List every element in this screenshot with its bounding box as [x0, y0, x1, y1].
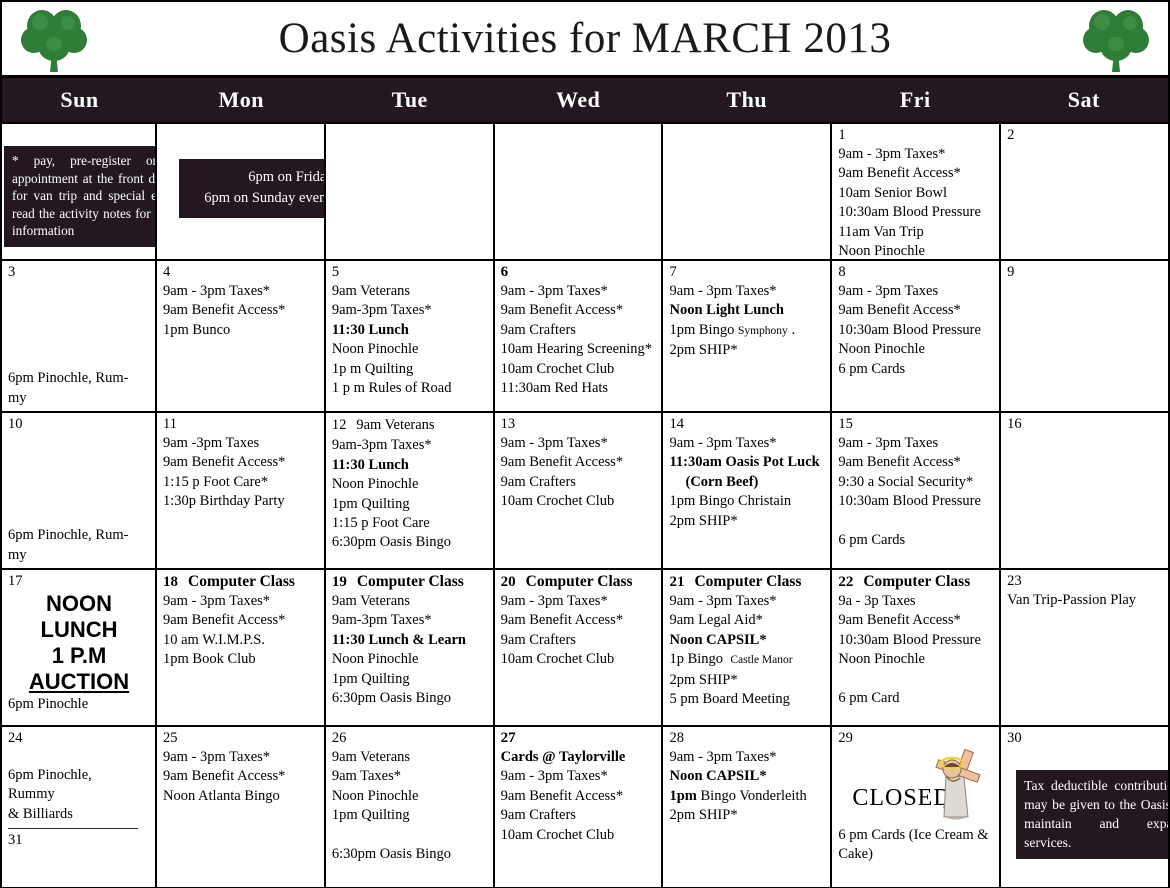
day-number: 24: [8, 730, 23, 747]
event-item: 5 pm Board Meeting: [669, 690, 825, 709]
event-item: 9am Crafters: [501, 631, 657, 650]
event-item: 9am Crafters: [501, 473, 657, 492]
jesus-carrying-cross-icon: [924, 747, 988, 825]
day-number: 3: [8, 264, 15, 281]
day-header: 3: [8, 264, 150, 281]
day-number: 23: [1007, 573, 1022, 590]
event-item: Noon Pinochle: [332, 475, 488, 494]
day-header: 29: [838, 730, 994, 747]
day-cell-29[interactable]: 29CLOSED6 pm Cards (Ice Cream &Cake): [832, 727, 1001, 887]
auction-line: NOON: [8, 591, 150, 617]
day-header: 10: [8, 416, 150, 433]
evening-event-line: 6pm Pinochle, Rum-: [8, 369, 150, 388]
week-row: 106pm Pinochle, Rum-my119am -3pm Taxes9a…: [2, 413, 1168, 570]
event-item: Noon CAPSIL*: [669, 767, 825, 786]
day-number: 11: [163, 416, 177, 433]
calendar-page: Oasis Activities for MARCH 2013 Sun Mon …: [0, 0, 1170, 888]
event-list: 9am - 3pm Taxes*Noon Light Lunch1pm Bing…: [669, 282, 825, 361]
day-number: 21: [669, 574, 684, 591]
day-header-extra: Computer Class: [526, 573, 633, 591]
day-number: 7: [669, 264, 676, 281]
event-item: 1p Bingo Castle Manor: [669, 650, 825, 670]
day-number: 16: [1007, 416, 1022, 433]
weekday-tue: Tue: [326, 78, 495, 122]
event-item: 9am - 3pm Taxes*: [163, 592, 319, 611]
evening-event-line: my: [8, 546, 150, 565]
event-item: 9am-3pm Taxes*: [332, 301, 488, 320]
day-cell-19[interactable]: 19Computer Class9am Veterans9am-3pm Taxe…: [326, 570, 495, 725]
event-item: 9am Benefit Access*: [501, 453, 657, 472]
day-cell-empty[interactable]: * pay, pre-register or make an appointme…: [2, 124, 157, 259]
evening-event-line: my: [8, 389, 150, 408]
event-item: 9am-3pm Taxes*: [332, 436, 488, 455]
event-item: Cards @ Taylorville: [501, 748, 657, 767]
day-number: 26: [332, 730, 347, 747]
event-list: 9am - 3pm Taxes*9am Benefit Access*9am C…: [501, 434, 657, 512]
day-header: 9: [1007, 264, 1163, 281]
event-item: 9am Benefit Access*: [163, 453, 319, 472]
event-item: 6:30pm Oasis Bingo: [332, 533, 488, 552]
event-item: 9am - 3pm Taxes*: [669, 434, 825, 453]
day-header: 25: [163, 730, 319, 747]
event-item: 10am Crochet Club: [501, 360, 657, 379]
event-list: 9am Veterans9am-3pm Taxes*11:30 Lunch & …: [332, 592, 488, 708]
event-list: Van Trip-Passion Play: [1007, 591, 1163, 610]
day-header-extra: Computer Class: [863, 573, 970, 591]
day-number: 18: [163, 574, 178, 591]
event-item: 10 am W.I.M.P.S.: [163, 631, 319, 650]
weekday-thu: Thu: [663, 78, 832, 122]
day-header: 7: [669, 264, 825, 281]
event-item: 9am Veterans: [332, 592, 488, 611]
day-header: 5: [332, 264, 488, 281]
registration-note: * pay, pre-register or make an appointme…: [4, 146, 157, 247]
day-cell-1[interactable]: 19am - 3pm Taxes*9am Benefit Access*10am…: [832, 124, 1001, 259]
event-item: 9am Crafters: [501, 321, 657, 340]
event-item: 10am Crochet Club: [501, 492, 657, 511]
day-header: 13: [501, 416, 657, 433]
day-cell-17[interactable]: 17NOONLUNCH1 P.MAUCTION6pm Pinochle: [2, 570, 157, 725]
tax-deductible-note: Tax deductible contributions may be give…: [1016, 770, 1168, 859]
weekday-sat: Sat: [1000, 78, 1169, 122]
day-header: 30: [1007, 730, 1163, 747]
day-cell-4[interactable]: 49am - 3pm Taxes*9am Benefit Access*1pm …: [157, 261, 326, 411]
day-number: 30: [1007, 730, 1022, 747]
day-number: 10: [8, 416, 23, 433]
day-cell-6[interactable]: 69am - 3pm Taxes*9am Benefit Access*9am …: [495, 261, 664, 411]
event-item: 11am Van Trip: [838, 223, 994, 242]
event-item: 9am - 3pm Taxes*: [669, 592, 825, 611]
day-cell-10[interactable]: 106pm Pinochle, Rum-my: [2, 413, 157, 568]
event-item: 9am -3pm Taxes: [163, 434, 319, 453]
evening-event-line: 6pm Pinochle, Rum-: [8, 526, 150, 545]
event-item: 9am - 3pm Taxes*: [163, 748, 319, 767]
event-item: Noon Light Lunch: [669, 301, 825, 320]
event-item: 9am Benefit Access*: [501, 787, 657, 806]
event-item: 2pm SHIP*: [669, 806, 825, 825]
event-item: 9am - 3pm Taxes*: [669, 282, 825, 301]
event-item: Noon Pinochle: [838, 650, 994, 669]
event-list: 9am Veterans9am-3pm Taxes*11:30 LunchNoo…: [332, 282, 488, 398]
week-row: * pay, pre-register or make an appointme…: [2, 124, 1168, 261]
day-cell-30[interactable]: 30Tax deductible contributions may be gi…: [1001, 727, 1168, 887]
event-list: 9am - 3pm Taxes*9am Benefit Access*9am C…: [501, 282, 657, 398]
event-list: 9am - 3pm Taxes*9am Benefit Access*10am …: [838, 145, 994, 259]
event-item: 1:15 p Foot Care*: [163, 473, 319, 492]
date-divider: [8, 828, 138, 829]
event-item: 9am - 3pm Taxes*: [838, 145, 994, 164]
day-header: 14: [669, 416, 825, 433]
day-header-extra: Computer Class: [357, 573, 464, 591]
week-row: 36pm Pinochle, Rum-my49am - 3pm Taxes*9a…: [2, 261, 1168, 413]
event-item: 9am Benefit Access*: [501, 301, 657, 320]
pinochle-evenings-note: 6pm on Friday evening: Pinochle, 5 in 16…: [179, 159, 326, 218]
event-item: 9:30 a Social Security*: [838, 473, 994, 492]
weekday-fri: Fri: [831, 78, 1000, 122]
page-title: Oasis Activities for MARCH 2013: [279, 14, 892, 63]
day-number: 9: [1007, 264, 1014, 281]
auction-line: AUCTION: [8, 669, 150, 695]
event-list: 9am - 3pm Taxes9am Benefit Access*9:30 a…: [838, 434, 994, 550]
event-item: 1:15 p Foot Care: [332, 514, 488, 533]
event-item: 11:30am Red Hats: [501, 379, 657, 398]
event-item: 6:30pm Oasis Bingo: [332, 689, 488, 708]
day-header: 27: [501, 730, 657, 747]
event-item: 1pm Quilting: [332, 495, 488, 514]
day-cell-11[interactable]: 119am -3pm Taxes9am Benefit Access*1:15 …: [157, 413, 326, 568]
event-item: 1pm Bingo Christain: [669, 492, 825, 511]
day-number: 25: [163, 730, 178, 747]
day-cell-16[interactable]: 16: [1001, 413, 1168, 568]
day-cell-24[interactable]: 246pm Pinochle,Rummy& Billiards31: [2, 727, 157, 887]
event-item: 9am - 3pm Taxes*: [501, 434, 657, 453]
event-item: 2pm SHIP*: [669, 341, 825, 360]
auction-announcement: NOONLUNCH1 P.MAUCTION: [8, 591, 150, 695]
week-row: 17NOONLUNCH1 P.MAUCTION6pm Pinochle18Com…: [2, 570, 1168, 727]
event-item: 9am Benefit Access*: [163, 611, 319, 630]
event-item: 6pm Pinochle: [8, 695, 150, 714]
day-header: 1: [838, 127, 994, 144]
event-item: 1pm Quilting: [332, 670, 488, 689]
event-list: 9am - 3pm Taxes*11:30am Oasis Pot Luck(C…: [669, 434, 825, 531]
event-item: 9am Veterans: [332, 748, 488, 767]
event-item: 10am Crochet Club: [501, 650, 657, 669]
day-header: 4: [163, 264, 319, 281]
event-item: 11:30 Lunch & Learn: [332, 631, 488, 650]
day-cell-23[interactable]: 23Van Trip-Passion Play: [1001, 570, 1168, 725]
day-header: 129am Veterans: [332, 416, 488, 435]
day-cell-22[interactable]: 22Computer Class9a - 3p Taxes9am Benefit…: [832, 570, 1001, 725]
day-number: 19: [332, 574, 347, 591]
event-item: 11:30 Lunch: [332, 321, 488, 340]
day-header: 6: [501, 264, 657, 281]
event-item: 9am Benefit Access*: [838, 453, 994, 472]
day-number: 27: [501, 730, 516, 747]
event-item: 9am Benefit Access*: [838, 611, 994, 630]
day-cell-25[interactable]: 259am - 3pm Taxes*9am Benefit Access*Noo…: [157, 727, 326, 887]
pinochle-note-line: 6pm on Friday evening: Pinochle, 5 in 1: [185, 167, 326, 188]
event-item: 10am Senior Bowl: [838, 184, 994, 203]
event-list: 9a - 3p Taxes9am Benefit Access*10:30am …: [838, 592, 994, 708]
day-cell-14[interactable]: 149am - 3pm Taxes*11:30am Oasis Pot Luck…: [663, 413, 832, 568]
event-item: 6:30pm Oasis Bingo: [332, 845, 488, 864]
event-list: 9am - 3pm Taxes*9am Benefit Access*1pm B…: [163, 282, 319, 340]
event-list: 9am-3pm Taxes*11:30 LunchNoon Pinochle1p…: [332, 436, 488, 552]
event-item: 9am - 3pm Taxes*: [501, 592, 657, 611]
event-item: 1p m Quilting: [332, 360, 488, 379]
weekday-sun: Sun: [2, 78, 157, 122]
event-item: 9am - 3pm Taxes*: [669, 748, 825, 767]
day-cell-2[interactable]: 2: [1001, 124, 1168, 259]
calendar-title-banner: Oasis Activities for MARCH 2013: [2, 2, 1168, 78]
event-list: 6pm Pinochle,Rummy& Billiards31: [8, 766, 150, 849]
day-header: 8: [838, 264, 994, 281]
day-number: 1: [838, 127, 845, 144]
event-item: 9am-3pm Taxes*: [332, 611, 488, 630]
day-header: 11: [163, 416, 319, 433]
event-item: 9am - 3pm Taxes: [838, 434, 994, 453]
event-item: Noon CAPSIL*: [669, 631, 825, 650]
event-item: 10am Hearing Screening*: [501, 340, 657, 359]
event-item: 1pm Bingo Vonderleith: [669, 787, 825, 806]
event-item: 9am Benefit Access*: [838, 164, 994, 183]
day-cell-empty[interactable]: [495, 124, 664, 259]
day-number: 12: [332, 417, 347, 434]
day-header: 28: [669, 730, 825, 747]
day-cell-26[interactable]: 269am Veterans9am Taxes*Noon Pinochle1pm…: [326, 727, 495, 887]
day-cell-18[interactable]: 18Computer Class9am - 3pm Taxes*9am Bene…: [157, 570, 326, 725]
day-number: 17: [8, 573, 23, 590]
day-number-31: 31: [8, 832, 150, 849]
day-number: 14: [669, 416, 684, 433]
day-header: 17: [8, 573, 150, 590]
day-number: 6: [501, 264, 509, 281]
week-row: 246pm Pinochle,Rummy& Billiards31259am -…: [2, 727, 1168, 887]
day-header: 2: [1007, 127, 1163, 144]
event-list: 9am - 3pm Taxes*9am Benefit Access*9am C…: [501, 592, 657, 670]
day-number: 13: [501, 416, 516, 433]
event-item: 6pm Pinochle,: [8, 766, 150, 785]
event-item: Noon Pinochle: [838, 242, 994, 259]
event-item: & Billiards: [8, 805, 150, 824]
day-cell-12[interactable]: 129am Veterans9am-3pm Taxes*11:30 LunchN…: [326, 413, 495, 568]
event-list: 9am - 3pm Taxes9am Benefit Access*10:30a…: [838, 282, 994, 379]
event-item: 2pm SHIP*: [669, 671, 825, 690]
event-item: 9am Crafters: [501, 806, 657, 825]
evening-event: 6pm Pinochle, Rum-my: [8, 526, 150, 565]
weekday-mon: Mon: [157, 78, 326, 122]
event-list: 9am - 3pm Taxes*9am Legal Aid*Noon CAPSI…: [669, 592, 825, 709]
pinochle-note-line: 6pm on Sunday evening: Pinochle, Rummy &…: [185, 188, 326, 209]
day-header-extra: 9am Veterans: [356, 416, 434, 435]
weekday-header-row: Sun Mon Tue Wed Thu Fri Sat: [2, 78, 1168, 124]
day-number: 5: [332, 264, 339, 281]
event-item: Noon Atlanta Bingo: [163, 787, 319, 806]
event-item: 9am - 3pm Taxes*: [501, 767, 657, 786]
event-item: Cake): [838, 845, 994, 864]
event-item: 1pm Bingo Symphony .: [669, 321, 825, 341]
day-header: 26: [332, 730, 488, 747]
day-cell-28[interactable]: 289am - 3pm Taxes*Noon CAPSIL*1pm Bingo …: [663, 727, 832, 887]
day-cell-15[interactable]: 159am - 3pm Taxes9am Benefit Access*9:30…: [832, 413, 1001, 568]
calendar-grid: * pay, pre-register or make an appointme…: [2, 124, 1168, 887]
event-item: Noon Pinochle: [332, 650, 488, 669]
event-item: 9am - 3pm Taxes: [838, 282, 994, 301]
day-header-extra: Computer Class: [188, 573, 295, 591]
event-item: 10:30am Blood Pressure: [838, 492, 994, 511]
event-item: 9am - 3pm Taxes*: [501, 282, 657, 301]
event-item: 9a - 3p Taxes: [838, 592, 994, 611]
event-item: 10:30am Blood Pressure: [838, 321, 994, 340]
event-item: 6 pm Cards: [838, 531, 994, 550]
event-item: 9am Benefit Access*: [501, 611, 657, 630]
event-list: 9am Veterans9am Taxes*Noon Pinochle1pm Q…: [332, 748, 488, 864]
event-item: 9am Veterans: [332, 282, 488, 301]
event-list: Cards @ Taylorville9am - 3pm Taxes*9am B…: [501, 748, 657, 845]
day-cell-empty[interactable]: [663, 124, 832, 259]
event-item: 9am - 3pm Taxes*: [163, 282, 319, 301]
day-cell-9[interactable]: 9: [1001, 261, 1168, 411]
event-item: Noon Pinochle: [332, 340, 488, 359]
day-cell-7[interactable]: 79am - 3pm Taxes*Noon Light Lunch1pm Bin…: [663, 261, 832, 411]
auction-line: 1 P.M: [8, 643, 150, 669]
event-item: 6 pm Cards (Ice Cream &: [838, 826, 994, 845]
event-item: 11:30am Oasis Pot Luck: [669, 453, 825, 472]
day-header: 24: [8, 730, 150, 747]
event-item: 9am Benefit Access*: [163, 301, 319, 320]
day-number: 15: [838, 416, 853, 433]
event-item: 1pm Quilting: [332, 806, 488, 825]
event-item: Rummy: [8, 785, 150, 804]
day-header: 20Computer Class: [501, 573, 657, 591]
event-item: 10:30am Blood Pressure: [838, 203, 994, 222]
event-item: 6 pm Card: [838, 689, 994, 708]
event-item: 10:30am Blood Pressure: [838, 631, 994, 650]
event-item: Noon Pinochle: [332, 787, 488, 806]
shamrock-icon: [1078, 6, 1154, 74]
event-item: 1:30p Birthday Party: [163, 492, 319, 511]
day-cell-13[interactable]: 139am - 3pm Taxes*9am Benefit Access*9am…: [495, 413, 664, 568]
day-cell-empty[interactable]: [326, 124, 495, 259]
event-item: 1pm Book Club: [163, 650, 319, 669]
event-item: 2pm SHIP*: [669, 512, 825, 531]
shamrock-icon: [16, 6, 92, 74]
event-item: 9am Benefit Access*: [163, 767, 319, 786]
day-cell-21[interactable]: 21Computer Class9am - 3pm Taxes*9am Lega…: [663, 570, 832, 725]
event-list: 6 pm Cards (Ice Cream &Cake): [838, 826, 994, 865]
day-header: 18Computer Class: [163, 573, 319, 591]
day-number: 2: [1007, 127, 1014, 144]
day-number: 20: [501, 574, 516, 591]
event-list: 9am - 3pm Taxes*9am Benefit Access*Noon …: [163, 748, 319, 806]
day-header: 22Computer Class: [838, 573, 994, 591]
event-item: 6 pm Cards: [838, 360, 994, 379]
event-list: 9am - 3pm Taxes*9am Benefit Access*10 am…: [163, 592, 319, 670]
event-item: 10am Crochet Club: [501, 826, 657, 845]
day-number: 8: [838, 264, 845, 281]
day-header: 19Computer Class: [332, 573, 488, 591]
event-item: 9am Benefit Access*: [838, 301, 994, 320]
day-header: 15: [838, 416, 994, 433]
weekday-wed: Wed: [494, 78, 663, 122]
evening-event: 6pm Pinochle, Rum-my: [8, 369, 150, 408]
day-header: 23: [1007, 573, 1163, 590]
day-cell-27[interactable]: 27Cards @ Taylorville9am - 3pm Taxes*9am…: [495, 727, 664, 887]
day-header: 16: [1007, 416, 1163, 433]
day-number: 28: [669, 730, 684, 747]
event-item: 9am Taxes*: [332, 767, 488, 786]
event-item: Van Trip-Passion Play: [1007, 591, 1163, 610]
day-cell-3[interactable]: 36pm Pinochle, Rum-my: [2, 261, 157, 411]
day-number: 29: [838, 730, 853, 747]
day-header: 21Computer Class: [669, 573, 825, 591]
event-list: 9am - 3pm Taxes*Noon CAPSIL*1pm Bingo Vo…: [669, 748, 825, 826]
day-cell-8[interactable]: 89am - 3pm Taxes9am Benefit Access*10:30…: [832, 261, 1001, 411]
event-item: 1 p m Rules of Road: [332, 379, 488, 398]
day-cell-5[interactable]: 59am Veterans9am-3pm Taxes*11:30 LunchNo…: [326, 261, 495, 411]
event-item: 9am Legal Aid*: [669, 611, 825, 630]
day-cell-20[interactable]: 20Computer Class 9am - 3pm Taxes*9am Ben…: [495, 570, 664, 725]
event-item: 1pm Bunco: [163, 321, 319, 340]
closed-banner: CLOSED: [838, 747, 994, 825]
event-item: 11:30 Lunch: [332, 456, 488, 475]
day-number: 4: [163, 264, 170, 281]
event-item: (Corn Beef): [669, 473, 825, 492]
day-header-extra: Computer Class: [694, 573, 801, 591]
day-cell-empty[interactable]: 6pm on Friday evening: Pinochle, 5 in 16…: [157, 124, 326, 259]
event-item: Noon Pinochle: [838, 340, 994, 359]
auction-line: LUNCH: [8, 617, 150, 643]
day-number: 22: [838, 574, 853, 591]
event-list: 9am -3pm Taxes9am Benefit Access*1:15 p …: [163, 434, 319, 512]
